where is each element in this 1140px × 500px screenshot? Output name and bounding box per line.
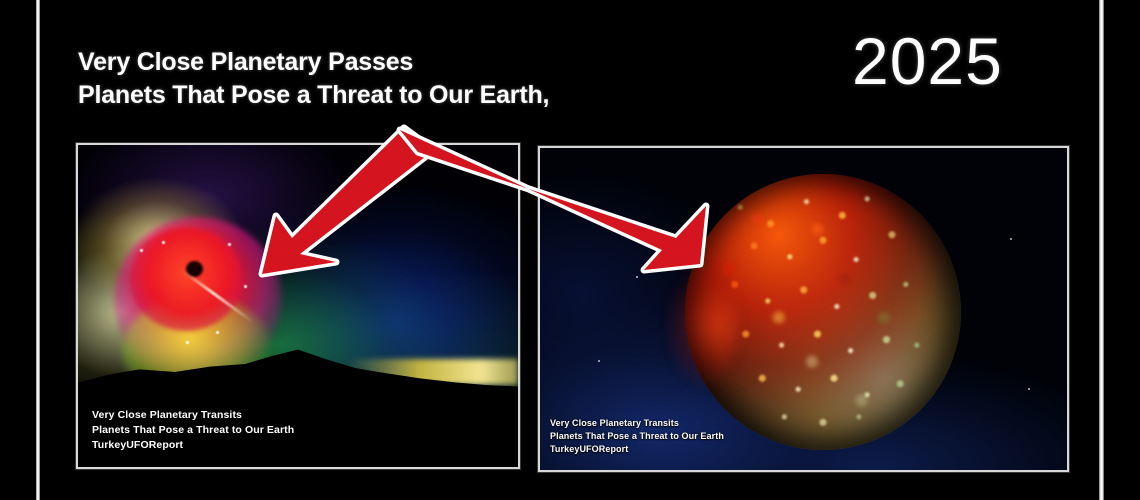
page-title: Very Close Planetary Passes Planets That… — [78, 46, 838, 112]
spark-point — [162, 241, 165, 244]
page-title-line-2: Planets That Pose a Threat to Our Earth, — [78, 79, 838, 112]
spark-point — [244, 285, 247, 288]
year-label: 2025 — [852, 28, 1003, 94]
planet-edge-flare — [668, 266, 738, 386]
photo-panel-right: Very Close Planetary Transits Planets Th… — [538, 146, 1069, 472]
caption-line-2: Planets That Pose a Threat to Our Earth — [92, 423, 294, 438]
glowing-object-core — [130, 227, 242, 331]
spark-point — [140, 249, 143, 252]
page-title-line-1: Very Close Planetary Passes — [78, 46, 838, 79]
photo-left-image: Very Close Planetary Transits Planets Th… — [78, 145, 518, 467]
frame-border-left — [36, 0, 40, 500]
photo-right-image: Very Close Planetary Transits Planets Th… — [540, 148, 1067, 470]
photo-right-caption: Very Close Planetary Transits Planets Th… — [550, 417, 724, 456]
caption-line-1: Very Close Planetary Transits — [92, 408, 294, 423]
star-point — [1010, 238, 1012, 240]
star-point — [598, 360, 600, 362]
star-point — [1028, 388, 1030, 390]
caption-line-3: TurkeyUFOReport — [550, 443, 724, 456]
star-point — [636, 276, 638, 278]
frame-border-right — [1099, 0, 1104, 500]
spark-point — [228, 243, 231, 246]
caption-line-3: TurkeyUFOReport — [92, 438, 294, 453]
caption-line-2: Planets That Pose a Threat to Our Earth — [550, 430, 724, 443]
star-point — [582, 206, 584, 208]
photo-left-caption: Very Close Planetary Transits Planets Th… — [92, 408, 294, 453]
spark-point — [216, 331, 219, 334]
screenshot-root: Very Close Planetary Passes Planets That… — [0, 0, 1140, 500]
spark-point — [186, 341, 189, 344]
photo-panel-left: Very Close Planetary Transits Planets Th… — [76, 143, 520, 469]
caption-line-1: Very Close Planetary Transits — [550, 417, 724, 430]
